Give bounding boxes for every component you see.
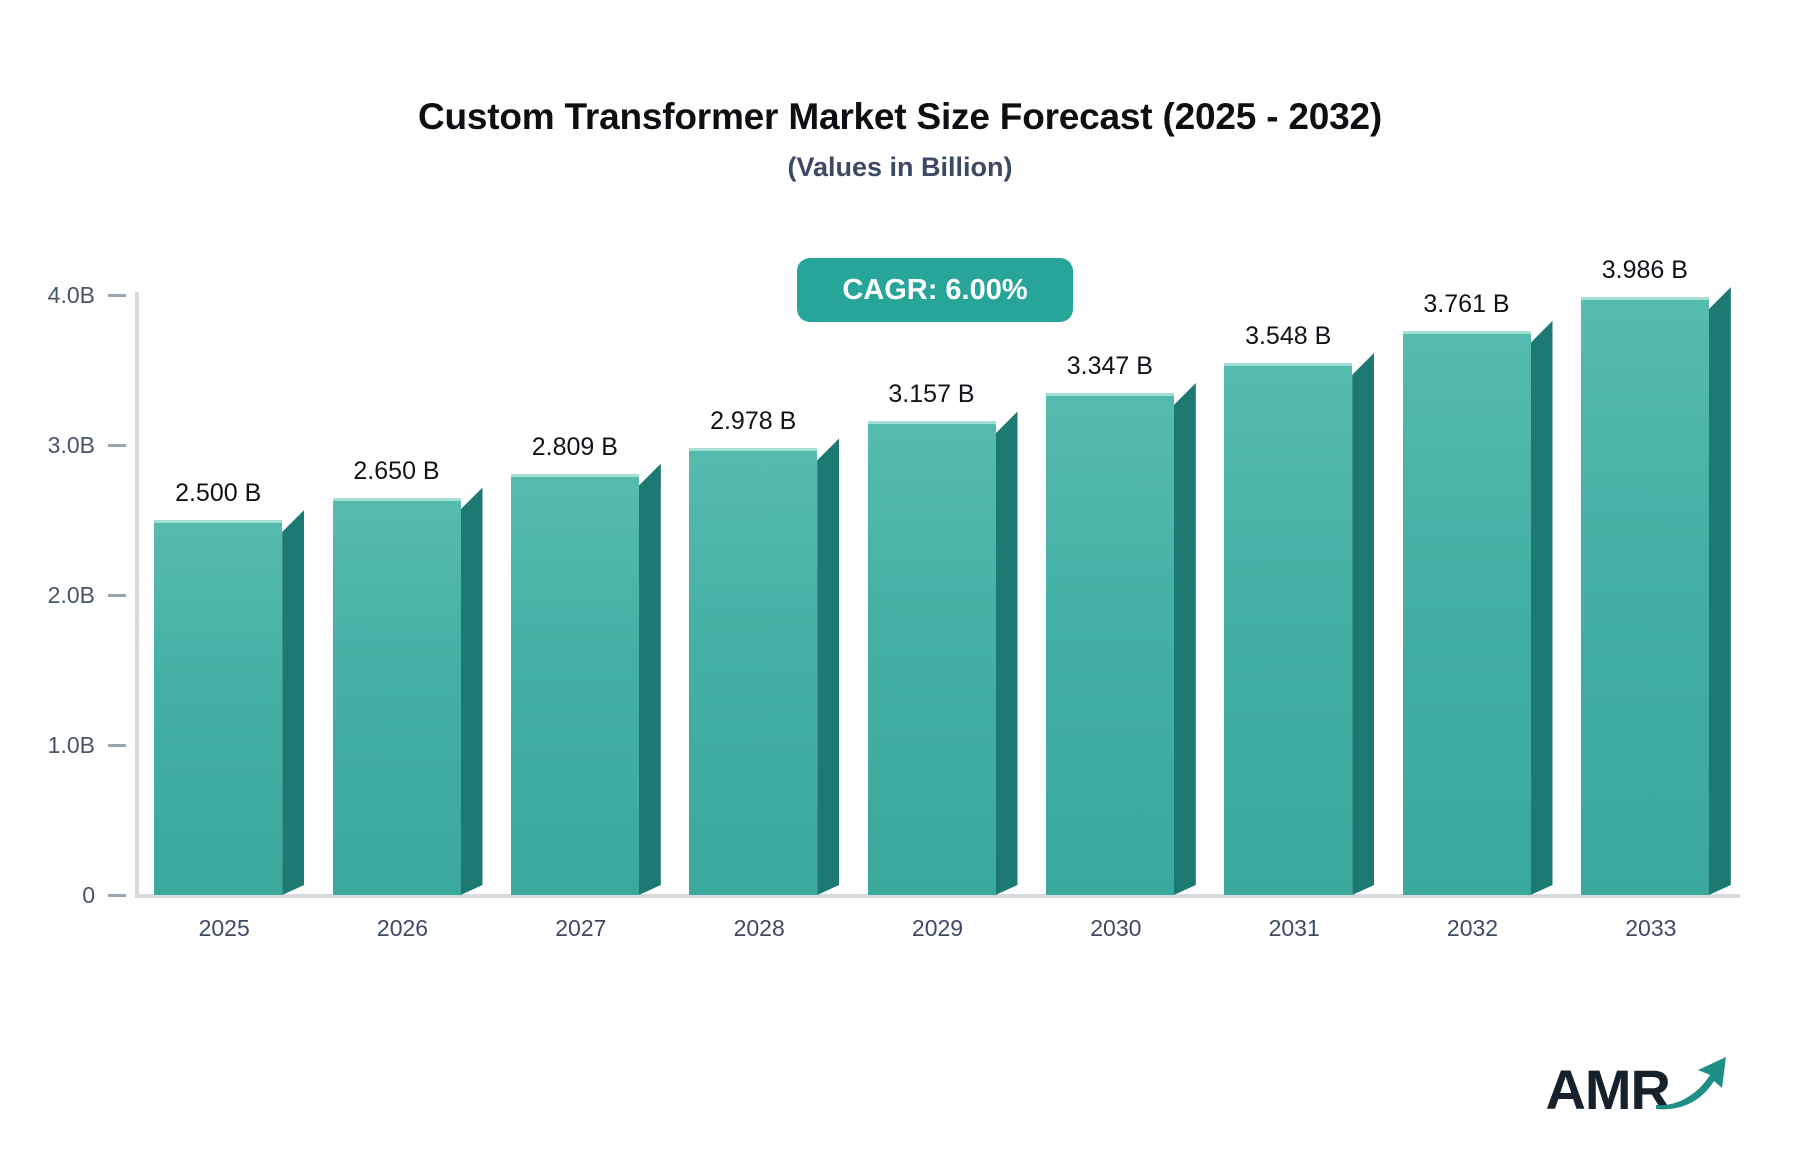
bar-value-label: 2.809 B bbox=[483, 433, 667, 462]
bar-top-highlight bbox=[154, 520, 282, 523]
bar-front-face bbox=[868, 421, 996, 895]
bar-side-face bbox=[1709, 287, 1731, 895]
bar-value-label: 3.157 B bbox=[840, 380, 1024, 409]
bar-front-face bbox=[1046, 393, 1174, 895]
y-axis-tick-label: 0 bbox=[82, 882, 95, 909]
x-axis-label: 2030 bbox=[1027, 915, 1205, 942]
bar-value-label: 3.986 B bbox=[1553, 256, 1737, 285]
bar-side-face bbox=[1174, 383, 1196, 895]
bar[interactable]: 2.809 B bbox=[511, 474, 639, 895]
bar-side-face bbox=[1352, 353, 1374, 895]
bar-value-label: 2.650 B bbox=[305, 457, 489, 486]
bar-value-label: 2.978 B bbox=[661, 407, 845, 436]
y-axis-tick-mark bbox=[108, 444, 126, 447]
y-axis-tick-mark bbox=[108, 744, 126, 747]
x-axis-label: 2028 bbox=[670, 915, 848, 942]
bar[interactable]: 3.157 B bbox=[868, 421, 996, 895]
amr-logo: AMR bbox=[1545, 1053, 1730, 1118]
y-axis-tick-label: 4.0B bbox=[48, 282, 95, 309]
y-axis-tick-label: 2.0B bbox=[48, 582, 95, 609]
bar-top-highlight bbox=[1581, 297, 1709, 300]
bar-top-highlight bbox=[689, 448, 817, 451]
y-axis-tick-label: 3.0B bbox=[48, 432, 95, 459]
bar-top-highlight bbox=[333, 498, 461, 501]
bar-front-face bbox=[1224, 363, 1352, 895]
bar-series: 2.500 B2.650 B2.809 B2.978 B3.157 B3.347… bbox=[135, 0, 1740, 1156]
bar[interactable]: 2.500 B bbox=[154, 520, 282, 895]
bar-front-face bbox=[333, 498, 461, 896]
bar-value-label: 3.548 B bbox=[1196, 322, 1380, 351]
bar-front-face bbox=[689, 448, 817, 895]
bar-side-face bbox=[817, 438, 839, 895]
bar[interactable]: 2.978 B bbox=[689, 448, 817, 895]
bar-value-label: 3.347 B bbox=[1018, 352, 1202, 381]
bar-top-highlight bbox=[1403, 331, 1531, 334]
bar[interactable]: 3.347 B bbox=[1046, 393, 1174, 895]
bar-top-highlight bbox=[1224, 363, 1352, 366]
cagr-badge-label: CAGR: 6.00% bbox=[842, 274, 1027, 307]
bar-side-face bbox=[639, 464, 661, 895]
plot-area: 4.0B3.0B2.0B1.0B0 2.500 B2.650 B2.809 B2… bbox=[0, 0, 1800, 1156]
bar[interactable]: 3.548 B bbox=[1224, 363, 1352, 895]
bar-side-face bbox=[461, 488, 483, 896]
cagr-badge: CAGR: 6.00% bbox=[797, 258, 1073, 322]
y-axis-tick-mark bbox=[108, 594, 126, 597]
x-axis-label: 2026 bbox=[313, 915, 491, 942]
bar-top-highlight bbox=[1046, 393, 1174, 396]
bar[interactable]: 2.650 B bbox=[333, 498, 461, 896]
bar-front-face bbox=[511, 474, 639, 895]
bar-front-face bbox=[1581, 297, 1709, 895]
trending-up-arrow-icon bbox=[1654, 1053, 1730, 1116]
bar[interactable]: 3.761 B bbox=[1403, 331, 1531, 895]
bar-value-label: 2.500 B bbox=[126, 479, 310, 508]
bar[interactable]: 3.986 B bbox=[1581, 297, 1709, 895]
x-axis-label: 2031 bbox=[1205, 915, 1383, 942]
bar-top-highlight bbox=[511, 474, 639, 477]
y-axis-tick-label: 1.0B bbox=[48, 732, 95, 759]
bar-value-label: 3.761 B bbox=[1375, 290, 1559, 319]
bar-side-face bbox=[282, 510, 304, 895]
bar-side-face bbox=[1531, 321, 1553, 895]
x-axis-label: 2033 bbox=[1562, 915, 1740, 942]
bar-side-face bbox=[996, 411, 1018, 895]
bar-top-highlight bbox=[868, 421, 996, 424]
x-axis-label: 2029 bbox=[848, 915, 1026, 942]
x-axis-label: 2032 bbox=[1383, 915, 1561, 942]
x-axis-label: 2027 bbox=[492, 915, 670, 942]
logo-text: AMR bbox=[1545, 1062, 1670, 1118]
y-axis-tick-mark bbox=[108, 894, 126, 897]
x-axis-label: 2025 bbox=[135, 915, 313, 942]
bar-front-face bbox=[1403, 331, 1531, 895]
chart-canvas: Custom Transformer Market Size Forecast … bbox=[0, 0, 1800, 1156]
bar-front-face bbox=[154, 520, 282, 895]
y-axis-tick-mark bbox=[108, 294, 126, 297]
